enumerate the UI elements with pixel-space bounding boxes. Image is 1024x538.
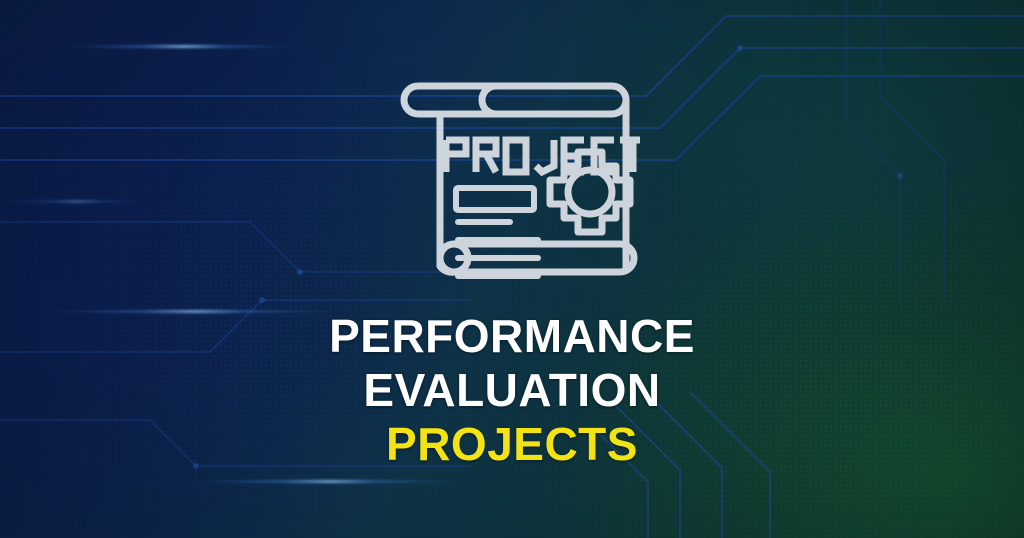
headline-line-1: PERFORMANCE: [0, 313, 1024, 359]
headline-block: PERFORMANCE EVALUATION PROJECTS: [0, 313, 1024, 467]
project-scroll-gear-icon: [396, 62, 640, 300]
headline-line-3: PROJECTS: [0, 421, 1024, 467]
headline-line-2: EVALUATION: [0, 367, 1024, 413]
promo-banner: PERFORMANCE EVALUATION PROJECTS: [0, 0, 1024, 538]
